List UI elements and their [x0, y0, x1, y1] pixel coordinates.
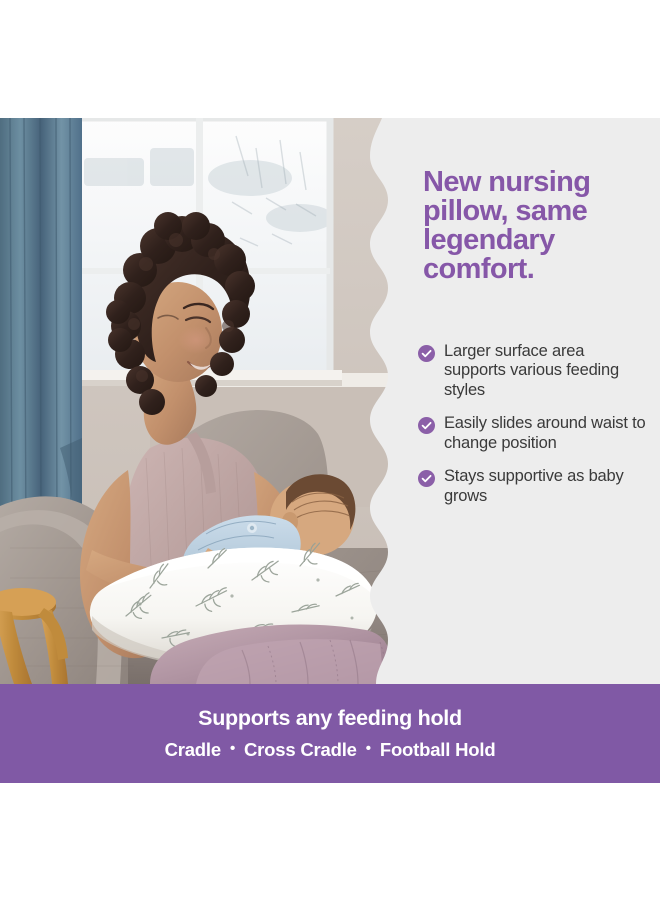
headline-line-4: comfort.	[423, 255, 638, 284]
promo-image-canvas: New nursing pillow, same legendary comfo…	[0, 0, 660, 900]
headline-line-3: legendary	[423, 226, 638, 255]
banner-title: Supports any feeding hold	[198, 708, 462, 730]
lifestyle-photo	[0, 118, 392, 684]
check-circle-icon	[418, 345, 435, 362]
hold-cradle: Cradle	[165, 741, 221, 760]
list-item: Stays supportive as baby grows	[418, 467, 650, 506]
headline-line-2: pillow, same	[423, 197, 638, 226]
headline-line-1: New nursing	[423, 168, 638, 197]
list-item: Easily slides around waist to change pos…	[418, 414, 650, 453]
feature-list: Larger surface area supports various fee…	[418, 342, 650, 506]
check-circle-icon	[418, 417, 435, 434]
list-item: Larger surface area supports various fee…	[418, 342, 650, 400]
bullet-separator-icon: •	[366, 741, 371, 756]
list-item-label: Larger surface area supports various fee…	[444, 342, 650, 400]
check-circle-icon	[418, 470, 435, 487]
hold-cross-cradle: Cross Cradle	[244, 741, 357, 760]
info-panel: New nursing pillow, same legendary comfo…	[358, 118, 660, 684]
banner-hold-list: Cradle • Cross Cradle • Football Hold	[165, 741, 496, 760]
photo-artwork	[0, 118, 392, 684]
hold-football: Football Hold	[380, 741, 496, 760]
page-title: New nursing pillow, same legendary comfo…	[423, 168, 638, 284]
bullet-separator-icon: •	[230, 741, 235, 756]
feeding-hold-banner: Supports any feeding hold Cradle • Cross…	[0, 684, 660, 783]
list-item-label: Stays supportive as baby grows	[444, 467, 650, 506]
list-item-label: Easily slides around waist to change pos…	[444, 414, 650, 453]
